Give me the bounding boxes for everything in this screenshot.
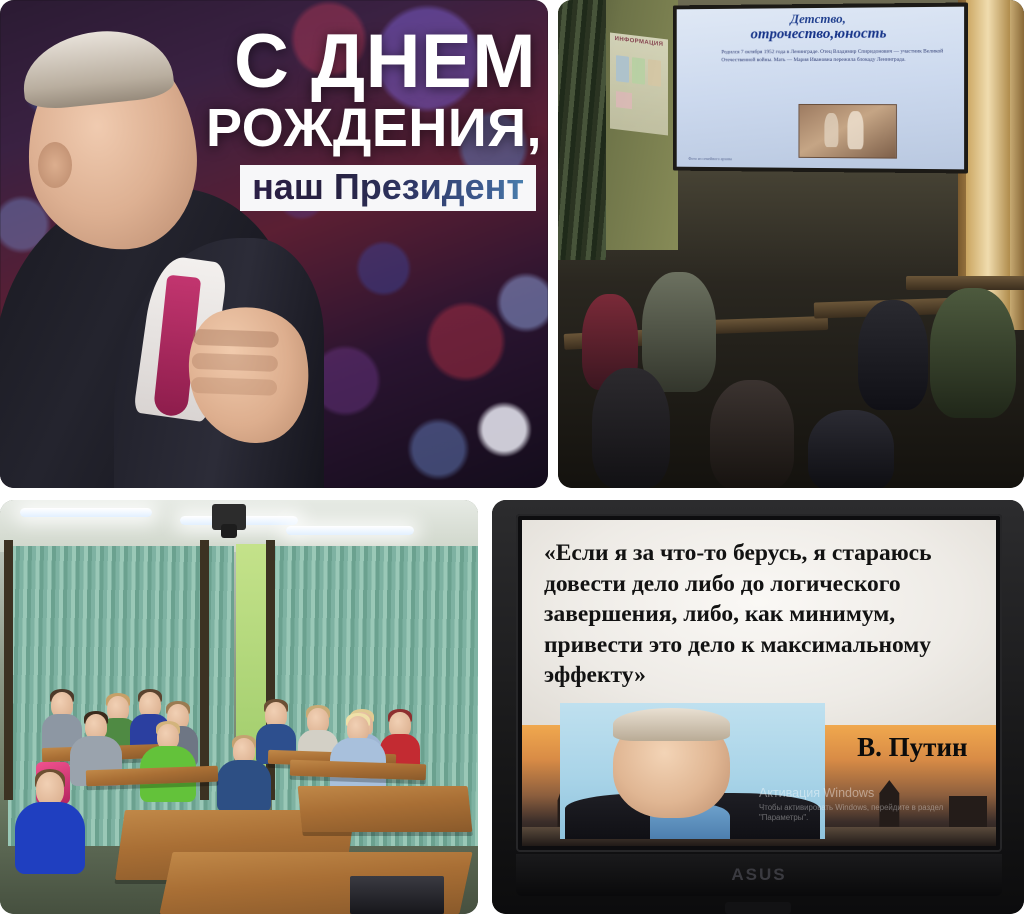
poster-headline-line1: С ДНЕМ — [206, 26, 536, 99]
audience-silhouette — [592, 368, 670, 488]
ceiling-projector — [212, 504, 246, 530]
classroom-desk — [298, 786, 473, 832]
quote-attribution: В. Путин — [857, 732, 967, 763]
monitor-bottom-bezel: ASUS — [516, 854, 1002, 896]
information-board: ИНФОРМАЦИЯ — [610, 32, 668, 135]
panel-birthday-poster: С ДНЕМ РОЖДЕНИЯ, наш Президент — [0, 0, 548, 488]
windows-activation-watermark: Активация Windows Чтобы активировать Win… — [759, 787, 977, 822]
audience-silhouette — [858, 300, 928, 410]
audience-silhouette — [808, 410, 894, 488]
slide-archive-photo — [798, 104, 896, 159]
wall-pillar — [200, 540, 209, 800]
panel-monitor-quote: «Если я за что-то берусь, я стараюсь дов… — [492, 500, 1024, 914]
hair-shape — [613, 708, 730, 741]
information-board-label: ИНФОРМАЦИЯ — [614, 36, 664, 48]
torso — [15, 802, 85, 874]
ear-shape — [38, 142, 72, 188]
ceiling-lamp — [286, 526, 414, 535]
slide-footer-caption: Фото из семейного архива — [688, 156, 732, 161]
poster-subtitle-band: наш Президент — [240, 165, 536, 211]
photo-collage: С ДНЕМ РОЖДЕНИЯ, наш Президент ИНФОРМАЦИ… — [0, 0, 1024, 914]
audience-silhouette — [930, 288, 1016, 418]
slide-body-text: Родился 7 октября 1952 года в Ленинграде… — [721, 48, 947, 65]
putin-quote-text: «Если я за что-то берусь, я стараюсь дов… — [544, 538, 978, 691]
torso — [217, 760, 271, 812]
board-card — [648, 59, 661, 87]
panel-projector-classroom: ИНФОРМАЦИЯ Детство, отрочество,юность Ро… — [558, 0, 1024, 488]
slide-title-line2: отрочество,юность — [683, 25, 958, 43]
audience-silhouette — [710, 380, 794, 488]
asus-logo: ASUS — [731, 865, 786, 885]
monitor-stand — [725, 902, 791, 914]
poster-text-block: С ДНЕМ РОЖДЕНИЯ, наш Президент — [206, 26, 536, 211]
monitor-screen: «Если я за что-то берусь, я стараюсь дов… — [522, 520, 996, 846]
monitor-bezel: «Если я за что-то берусь, я стараюсь дов… — [516, 514, 1002, 852]
wall-pillar — [4, 540, 13, 800]
head — [36, 772, 64, 806]
panel-students-classroom — [0, 500, 478, 914]
projection-screen-frame: Детство, отрочество,юность Родился 7 окт… — [673, 3, 968, 174]
window-curtain — [558, 0, 606, 260]
board-card — [616, 55, 629, 83]
watermark-title: Активация Windows — [759, 787, 977, 801]
poster-subtitle-text: наш Президент — [252, 166, 524, 207]
projection-screen: Детство, отрочество,юность Родился 7 окт… — [677, 7, 964, 170]
ceiling-lamp — [20, 508, 152, 517]
audience-silhouette — [642, 272, 716, 392]
board-card — [616, 91, 632, 109]
classroom-chair — [350, 876, 444, 914]
poster-headline-line2: РОЖДЕНИЯ, — [206, 103, 536, 155]
watermark-subtitle: Чтобы активировать Windows, перейдите в … — [759, 803, 977, 822]
board-card — [632, 57, 645, 85]
